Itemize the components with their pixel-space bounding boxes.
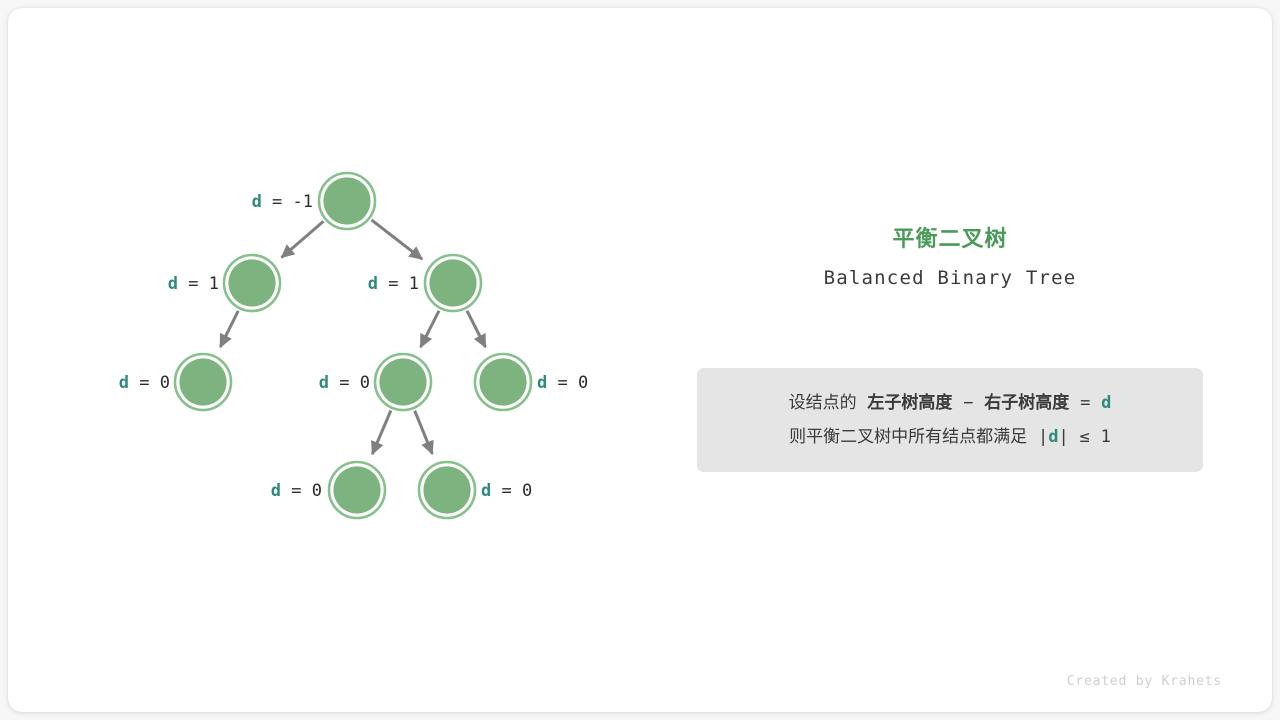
balance-value: = 0 (129, 373, 170, 393)
nodes-layer (175, 173, 531, 518)
panel-title-en: Balanced Binary Tree (697, 262, 1203, 294)
tree-edge (282, 221, 324, 257)
panel-title-cn: 平衡二叉树 (697, 225, 1203, 255)
tree-node[interactable] (319, 173, 375, 229)
balance-value: = 1 (378, 274, 419, 294)
balance-value: = 0 (281, 481, 322, 501)
node-balance-label: d = 0 (271, 481, 322, 501)
tree-node[interactable] (175, 354, 231, 410)
threshold-value: 1 (1101, 427, 1111, 447)
d-symbol-line1: d (1101, 393, 1111, 413)
node-labels-layer: d = -1d = 1d = 1d = 0d = 0d = 0d = 0d = … (119, 192, 588, 501)
tree-edge (415, 411, 433, 454)
screenshot-root: d = -1d = 1d = 1d = 0d = 0d = 0d = 0d = … (0, 0, 1280, 720)
node-circle (179, 358, 226, 405)
balance-d-symbol: d (537, 373, 547, 393)
balance-d-symbol: d (271, 481, 281, 501)
tree-node[interactable] (425, 255, 481, 311)
node-circle (429, 259, 476, 306)
node-balance-label: d = 1 (168, 274, 219, 294)
condition-prefix: 则平衡二叉树中所有结点都满足 (789, 427, 1027, 447)
balance-d-symbol: d (252, 192, 262, 212)
node-balance-label: d = 1 (368, 274, 419, 294)
balance-value: = 0 (491, 481, 532, 501)
tree-edge (220, 311, 238, 347)
d-symbol-line2: d (1048, 427, 1058, 447)
tree-node[interactable] (329, 462, 385, 518)
tree-node[interactable] (224, 255, 280, 311)
equals-operator: = (1080, 393, 1090, 413)
node-circle (323, 177, 370, 224)
node-circle (379, 358, 426, 405)
definition-line-2: 则平衡二叉树中所有结点都满足 |d| ≤ 1 (789, 420, 1111, 454)
node-circle (333, 466, 380, 513)
node-balance-label: d = 0 (481, 481, 532, 501)
tree-node[interactable] (375, 354, 431, 410)
balance-d-symbol: d (368, 274, 378, 294)
node-balance-label: d = 0 (319, 373, 370, 393)
node-balance-label: d = 0 (119, 373, 170, 393)
credit-text: Created by Krahets (0, 674, 1222, 689)
tree-node[interactable] (475, 354, 531, 410)
tree-diagram: d = -1d = 1d = 1d = 0d = 0d = 0d = 0d = … (0, 0, 1280, 720)
tree-edge (372, 220, 423, 259)
balance-d-symbol: d (168, 274, 178, 294)
node-balance-label: d = -1 (252, 192, 313, 212)
tree-edge (372, 411, 391, 455)
minus-operator: − (963, 393, 973, 413)
tree-edge (467, 311, 485, 348)
balance-value: = 0 (329, 373, 370, 393)
balance-d-symbol: d (481, 481, 491, 501)
balance-value: = 1 (178, 274, 219, 294)
node-circle (228, 259, 275, 306)
definition-box: 设结点的 左子树高度 − 右子树高度 = d 则平衡二叉树中所有结点都满足 |d… (697, 368, 1203, 472)
less-equal-operator: ≤ (1080, 427, 1090, 447)
node-balance-label: d = 0 (537, 373, 588, 393)
balance-d-symbol: d (119, 373, 129, 393)
definition-prefix: 设结点的 (789, 393, 857, 413)
balance-value: = 0 (547, 373, 588, 393)
node-circle (423, 466, 470, 513)
balance-d-symbol: d (319, 373, 329, 393)
abs-bar-right: | (1058, 427, 1068, 447)
balance-value: = -1 (262, 192, 313, 212)
node-circle (479, 358, 526, 405)
definition-line-1: 设结点的 左子树高度 − 右子树高度 = d (789, 386, 1112, 420)
right-subtree-height-term: 右子树高度 (984, 393, 1069, 413)
info-panel: 平衡二叉树 Balanced Binary Tree (697, 225, 1203, 294)
left-subtree-height-term: 左子树高度 (867, 393, 952, 413)
tree-node[interactable] (419, 462, 475, 518)
tree-edge (421, 311, 439, 348)
abs-bar-left: | (1038, 427, 1048, 447)
